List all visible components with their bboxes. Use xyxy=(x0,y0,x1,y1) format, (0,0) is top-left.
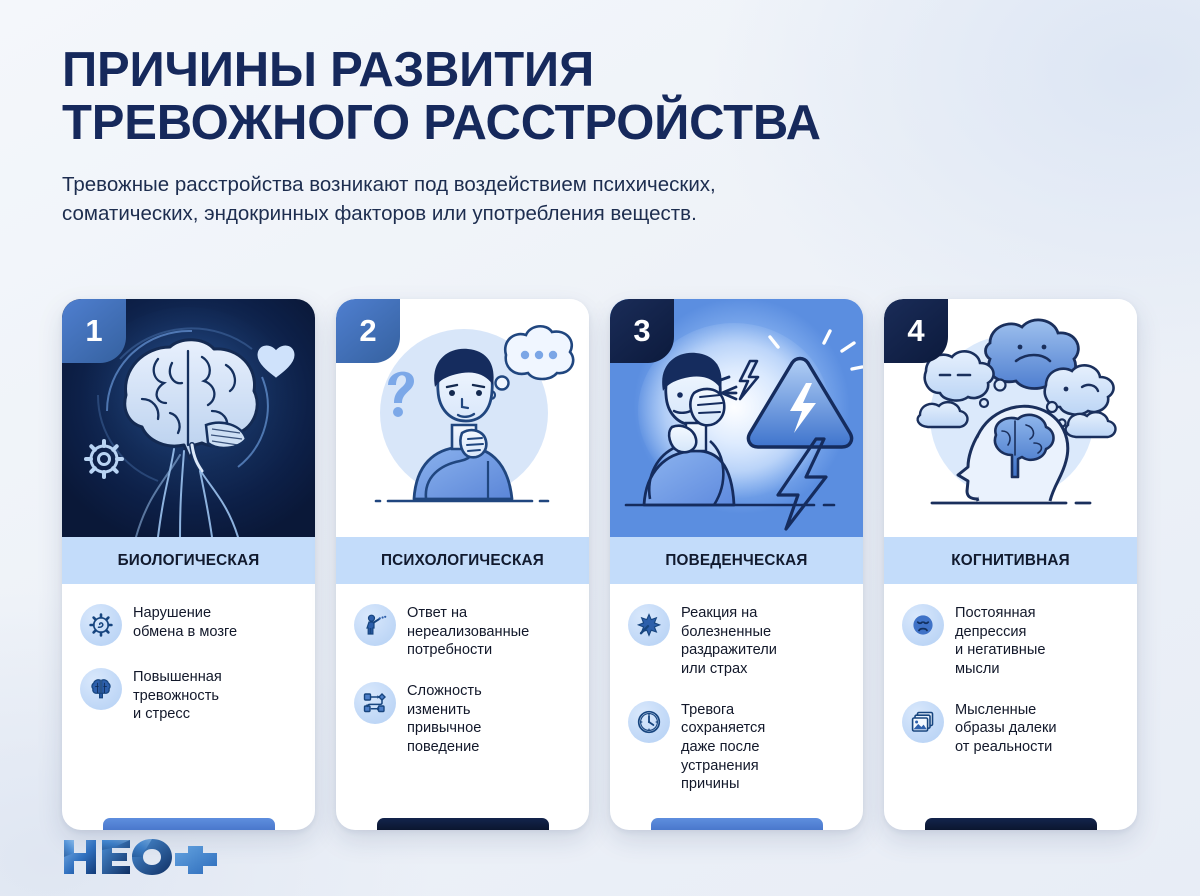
card-accent-bar xyxy=(925,818,1097,830)
list-item: Тревога сохраняется даже после устранени… xyxy=(628,700,847,794)
person-reaching-icon xyxy=(354,604,396,646)
card-number-badge: 4 xyxy=(884,299,948,363)
card-label-band: КОГНИТИВНАЯ xyxy=(884,537,1137,584)
cards-row: 1 xyxy=(62,299,1144,830)
list-item: Постоянная депрессия и негативные мысли xyxy=(902,603,1121,679)
logo-neo-plus xyxy=(62,834,218,880)
card-media: 1 xyxy=(62,299,315,537)
list-item: Реакция на болезненные раздражители или … xyxy=(628,603,847,679)
card-label-text: БИОЛОГИЧЕСКАЯ xyxy=(118,552,260,570)
card-body: Ответ на нереализованные потребности xyxy=(336,584,589,830)
card-accent-bar xyxy=(103,818,275,830)
list-item: Сложность изменить привычное поведение xyxy=(354,681,573,757)
list-item: Мысленные образы далеки от реальности xyxy=(902,700,1121,757)
card-label-text: ПОВЕДЕНЧЕСКАЯ xyxy=(665,552,807,570)
photo-stack-icon xyxy=(902,701,944,743)
list-item-text: Нарушение обмена в мозге xyxy=(133,603,237,641)
card-label-band: БИОЛОГИЧЕСКАЯ xyxy=(62,537,315,584)
card-biological[interactable]: 1 xyxy=(62,299,315,830)
card-number-badge: 3 xyxy=(610,299,674,363)
card-media: 2 xyxy=(336,299,589,537)
list-item-text: Тревога сохраняется даже после устранени… xyxy=(681,700,765,794)
page-subtitle: Тревожные расстройства возникают под воз… xyxy=(62,170,992,228)
card-accent-bar xyxy=(651,818,823,830)
card-label-band: ПОВЕДЕНЧЕСКАЯ xyxy=(610,537,863,584)
infographic-page: ПРИЧИНЫ РАЗВИТИЯ ТРЕВОЖНОГО РАССТРОЙСТВА… xyxy=(0,0,1200,896)
burst-impact-icon xyxy=(628,604,670,646)
card-behavioral[interactable]: 3 xyxy=(610,299,863,830)
sad-face-icon xyxy=(902,604,944,646)
gear-metabolism-icon xyxy=(80,604,122,646)
header: ПРИЧИНЫ РАЗВИТИЯ ТРЕВОЖНОГО РАССТРОЙСТВА… xyxy=(62,44,1152,228)
brain-icon xyxy=(80,668,122,710)
clock-icon xyxy=(628,701,670,743)
list-item-text: Повышенная тревожность и стресс xyxy=(133,667,222,724)
list-item: Ответ на нереализованные потребности xyxy=(354,603,573,660)
list-item: Повышенная тревожность и стресс xyxy=(80,667,299,724)
card-media: 3 xyxy=(610,299,863,537)
card-label-band: ПСИХОЛОГИЧЕСКАЯ xyxy=(336,537,589,584)
card-number-badge: 1 xyxy=(62,299,126,363)
list-item-text: Мысленные образы далеки от реальности xyxy=(955,700,1057,757)
card-number-badge: 2 xyxy=(336,299,400,363)
card-psychological[interactable]: 2 xyxy=(336,299,589,830)
list-item-text: Реакция на болезненные раздражители или … xyxy=(681,603,777,679)
page-title: ПРИЧИНЫ РАЗВИТИЯ ТРЕВОЖНОГО РАССТРОЙСТВА xyxy=(62,44,1152,150)
list-item-text: Сложность изменить привычное поведение xyxy=(407,681,482,757)
card-body: Постоянная депрессия и негативные мысли … xyxy=(884,584,1137,830)
card-media: 4 xyxy=(884,299,1137,537)
list-item-text: Ответ на нереализованные потребности xyxy=(407,603,529,660)
list-item-text: Постоянная депрессия и негативные мысли xyxy=(955,603,1045,679)
list-item: Нарушение обмена в мозге xyxy=(80,603,299,646)
card-accent-bar xyxy=(377,818,549,830)
card-cognitive[interactable]: 4 xyxy=(884,299,1137,830)
flowchart-icon xyxy=(354,682,396,724)
card-body: Реакция на болезненные раздражители или … xyxy=(610,584,863,830)
card-label-text: ПСИХОЛОГИЧЕСКАЯ xyxy=(381,552,544,570)
card-body: Нарушение обмена в мозге xyxy=(62,584,315,830)
card-label-text: КОГНИТИВНАЯ xyxy=(951,552,1070,570)
